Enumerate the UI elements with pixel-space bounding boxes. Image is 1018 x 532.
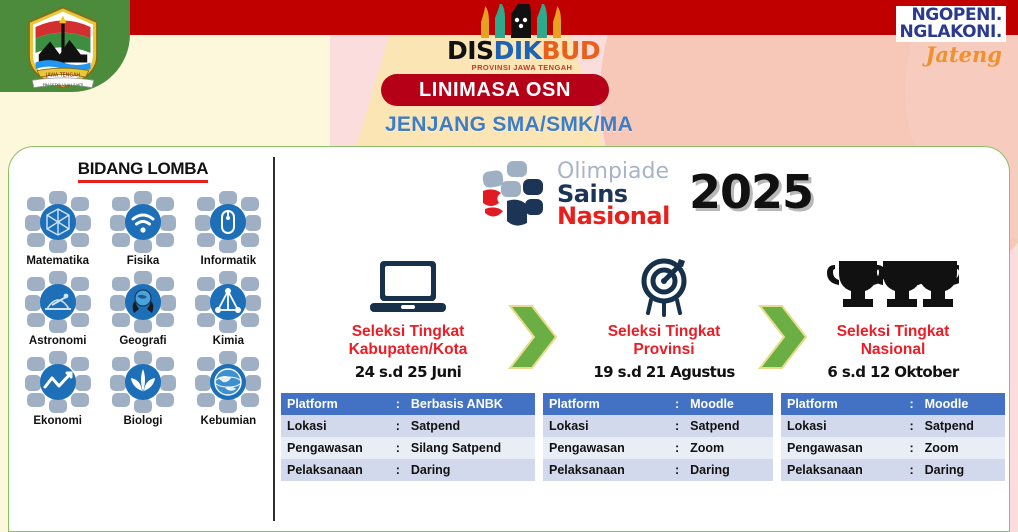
table-row: Lokasi : Satpend bbox=[781, 415, 1005, 437]
row-value: Berbasis ANBK bbox=[405, 393, 535, 415]
bidang-lomba-panel: BIDANG LOMBA bbox=[15, 159, 271, 519]
table-row: Pengawasan : Zoom bbox=[781, 437, 1005, 459]
molecule-icon bbox=[191, 267, 265, 337]
row-label: Pelaksanaan bbox=[543, 459, 670, 481]
svg-text:PRASETYA ULAH SAKTI: PRASETYA ULAH SAKTI bbox=[43, 83, 84, 87]
stage-table-kabupaten: Platform : Berbasis ANBK Lokasi : Satpen… bbox=[281, 393, 535, 481]
subject-astronomi[interactable]: Astronomi bbox=[15, 267, 100, 347]
stage-title: Seleksi Tingkat Nasional bbox=[781, 323, 1005, 359]
row-label: Pengawasan bbox=[781, 437, 905, 459]
row-value: Satpend bbox=[684, 415, 773, 437]
infographic-root: JAWA TENGAH PRASETYA ULAH SAKTI DISDIKBU… bbox=[0, 0, 1018, 532]
subject-ekonomi[interactable]: Ekonomi bbox=[15, 347, 100, 427]
osn-word-nasional: Nasional bbox=[557, 205, 670, 228]
table-row: Pengawasan : Silang Satpend bbox=[281, 437, 535, 459]
row-value: Satpend bbox=[405, 415, 535, 437]
row-label: Lokasi bbox=[781, 415, 905, 437]
svg-text:JAWA TENGAH: JAWA TENGAH bbox=[45, 72, 80, 78]
table-row: Lokasi : Satpend bbox=[281, 415, 535, 437]
table-row: Pelaksanaan : Daring bbox=[543, 459, 773, 481]
row-separator: : bbox=[391, 459, 405, 481]
line-chart-icon bbox=[21, 347, 95, 417]
subject-label: Kebumian bbox=[186, 415, 271, 427]
row-value: Satpend bbox=[919, 415, 1005, 437]
stage-table-nasional: Platform : Moodle Lokasi : Satpend Penga… bbox=[781, 393, 1005, 481]
earth-globe-icon bbox=[191, 347, 265, 417]
row-separator: : bbox=[670, 415, 684, 437]
panel-divider bbox=[273, 157, 275, 521]
row-separator: : bbox=[670, 393, 684, 415]
stage-date: 24 s.d 25 Juni bbox=[281, 363, 535, 381]
subject-biologi[interactable]: Biologi bbox=[100, 347, 185, 427]
logo-bud: BUD bbox=[542, 36, 601, 65]
row-value: Silang Satpend bbox=[405, 437, 535, 459]
laptop-icon bbox=[281, 255, 535, 317]
logo-dis: DIS bbox=[447, 36, 494, 65]
stage-table-provinsi: Platform : Moodle Lokasi : Satpend Penga… bbox=[543, 393, 773, 481]
subject-geografi[interactable]: Geografi bbox=[100, 267, 185, 347]
table-row: Pengawasan : Zoom bbox=[543, 437, 773, 459]
stage-date: 6 s.d 12 Oktober bbox=[781, 363, 1005, 381]
row-value: Moodle bbox=[684, 393, 773, 415]
subject-fisika[interactable]: Fisika bbox=[100, 187, 185, 267]
row-label: Pengawasan bbox=[543, 437, 670, 459]
row-separator: : bbox=[905, 393, 919, 415]
row-value: Moodle bbox=[919, 393, 1005, 415]
row-value: Zoom bbox=[919, 437, 1005, 459]
tagline-line2: NGLAKONI. bbox=[900, 24, 1002, 41]
row-separator: : bbox=[905, 459, 919, 481]
table-row: Platform : Berbasis ANBK bbox=[281, 393, 535, 415]
row-label: Pelaksanaan bbox=[281, 459, 391, 481]
subject-label: Kimia bbox=[186, 335, 271, 347]
subject-informatik[interactable]: Informatik bbox=[186, 187, 271, 267]
row-separator: : bbox=[670, 437, 684, 459]
table-row: Pelaksanaan : Daring bbox=[281, 459, 535, 481]
row-separator: : bbox=[670, 459, 684, 481]
temple-silhouettes-icon bbox=[447, 4, 597, 38]
subject-label: Ekonomi bbox=[15, 415, 100, 427]
row-label: Platform bbox=[543, 393, 670, 415]
computer-mouse-icon bbox=[191, 187, 265, 257]
row-label: Platform bbox=[781, 393, 905, 415]
row-value: Zoom bbox=[684, 437, 773, 459]
tagline-jateng-script: Jateng bbox=[896, 42, 1002, 67]
row-label: Pelaksanaan bbox=[781, 459, 905, 481]
disdikbud-logo: DISDIKBUD PROVINSI JAWA TENGAH bbox=[447, 4, 597, 72]
logo-dik: DIK bbox=[494, 36, 542, 65]
target-dartboard-icon bbox=[543, 255, 785, 317]
disdikbud-subtitle: PROVINSI JAWA TENGAH bbox=[447, 64, 597, 72]
content-card: BIDANG LOMBA bbox=[8, 146, 1010, 532]
bidang-lomba-heading: BIDANG LOMBA bbox=[15, 159, 271, 179]
table-row: Platform : Moodle bbox=[781, 393, 1005, 415]
wifi-waves-icon bbox=[106, 187, 180, 257]
subject-label: Informatik bbox=[186, 255, 271, 267]
stage-date: 19 s.d 21 Agustus bbox=[543, 363, 785, 381]
page-title: LINIMASA OSN bbox=[419, 79, 571, 102]
row-separator: : bbox=[391, 415, 405, 437]
linimasa-title-pill: LINIMASA OSN bbox=[381, 74, 609, 106]
subject-kimia[interactable]: Kimia bbox=[186, 267, 271, 347]
subject-label: Fisika bbox=[100, 255, 185, 267]
globe-in-hands-icon bbox=[106, 267, 180, 337]
page-subtitle: JENJANG SMA/SMK/MA bbox=[0, 113, 1018, 137]
osn-year: 2025 bbox=[689, 165, 813, 219]
stage-title: Seleksi Tingkat Kabupaten/Kota bbox=[281, 323, 535, 359]
row-separator: : bbox=[905, 415, 919, 437]
osn-wordmark: Olimpiade Sains Nasional bbox=[557, 162, 670, 228]
subject-label: Matematika bbox=[15, 255, 100, 267]
stage-title: Seleksi Tingkat Provinsi bbox=[543, 323, 785, 359]
leaf-plant-icon bbox=[106, 347, 180, 417]
observatory-icon bbox=[21, 267, 95, 337]
osn-cube-icon bbox=[475, 157, 551, 233]
osn-logo: Olimpiade Sains Nasional bbox=[475, 157, 670, 233]
row-separator: : bbox=[391, 437, 405, 459]
subject-label: Geografi bbox=[100, 335, 185, 347]
row-value: Daring bbox=[684, 459, 773, 481]
subject-label: Biologi bbox=[100, 415, 185, 427]
subject-grid: Matematika bbox=[15, 187, 271, 427]
stage-nasional: Seleksi Tingkat Nasional 6 s.d 12 Oktobe… bbox=[781, 255, 1005, 381]
table-row: Lokasi : Satpend bbox=[543, 415, 773, 437]
subject-kebumian[interactable]: Kebumian bbox=[186, 347, 271, 427]
table-row: Pelaksanaan : Daring bbox=[781, 459, 1005, 481]
disdikbud-wordmark: DISDIKBUD bbox=[447, 38, 597, 63]
central-java-provincial-emblem: JAWA TENGAH PRASETYA ULAH SAKTI bbox=[22, 6, 104, 90]
row-separator: : bbox=[905, 437, 919, 459]
row-value: Daring bbox=[405, 459, 535, 481]
trophies-icon bbox=[781, 255, 1005, 317]
row-label: Platform bbox=[281, 393, 391, 415]
row-label: Pengawasan bbox=[281, 437, 391, 459]
table-row: Platform : Moodle bbox=[543, 393, 773, 415]
stage-kabupaten: Seleksi Tingkat Kabupaten/Kota 24 s.d 25… bbox=[281, 255, 535, 381]
row-label: Lokasi bbox=[543, 415, 670, 437]
stage-provinsi: Seleksi Tingkat Provinsi 19 s.d 21 Agust… bbox=[543, 255, 785, 381]
ngopeni-tagline: NGOPENI. NGLAKONI. Jateng bbox=[896, 6, 1006, 67]
subject-label: Astronomi bbox=[15, 335, 100, 347]
row-separator: : bbox=[391, 393, 405, 415]
cube-wireframe-icon bbox=[21, 187, 95, 257]
subject-matematika[interactable]: Matematika bbox=[15, 187, 100, 267]
row-label: Lokasi bbox=[281, 415, 391, 437]
row-value: Daring bbox=[919, 459, 1005, 481]
